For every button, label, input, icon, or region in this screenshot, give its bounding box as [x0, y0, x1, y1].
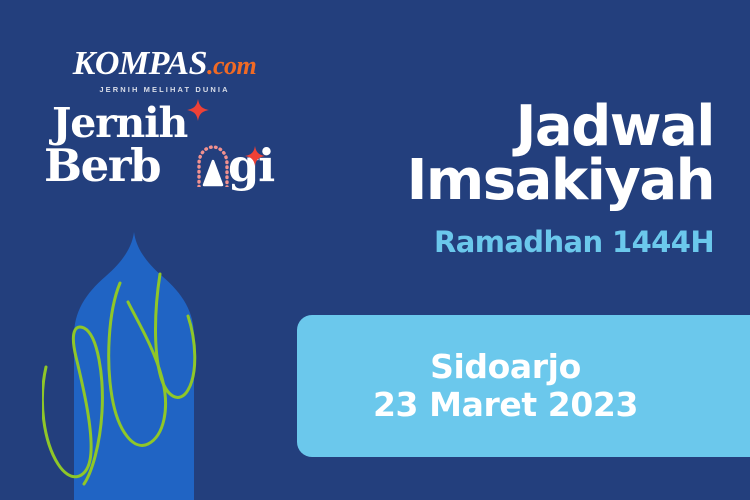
location-date-card: Sidoarjo 23 Maret 2023: [297, 315, 750, 457]
kompas-tagline: JERNIH MELIHAT DUNIA: [57, 86, 272, 94]
headline-subtitle: Ramadhan 1444H: [294, 225, 714, 259]
dotted-arch-a-icon: [196, 145, 230, 187]
date-text: 23 Maret 2023: [373, 386, 638, 424]
berbagi-text-prefix: Berb: [44, 143, 160, 188]
sparkle-star-icon: [187, 99, 209, 121]
kompas-wordmark: KOMPAS: [73, 47, 207, 81]
kompas-domain: .com: [207, 53, 256, 79]
sparkle-star-icon: [245, 146, 265, 166]
headline-block: Jadwal Imsakiyah Ramadhan 1444H: [294, 100, 714, 259]
headline-line-2: Imsakiyah: [294, 154, 714, 208]
mosque-dome-decoration: [42, 232, 216, 500]
headline-line-1: Jadwal: [294, 100, 714, 154]
city-name: Sidoarjo: [430, 348, 581, 386]
imsakiyah-poster: KOMPAS.com JERNIH MELIHAT DUNIA Jernih B…: [0, 0, 750, 500]
jernih-text: Jernih: [52, 103, 187, 144]
mosque-dome-icon: [42, 232, 216, 500]
kompas-logo: KOMPAS.com JERNIH MELIHAT DUNIA: [57, 47, 272, 94]
jernih-berbagi-logo: Jernih Berb gi: [44, 103, 274, 193]
